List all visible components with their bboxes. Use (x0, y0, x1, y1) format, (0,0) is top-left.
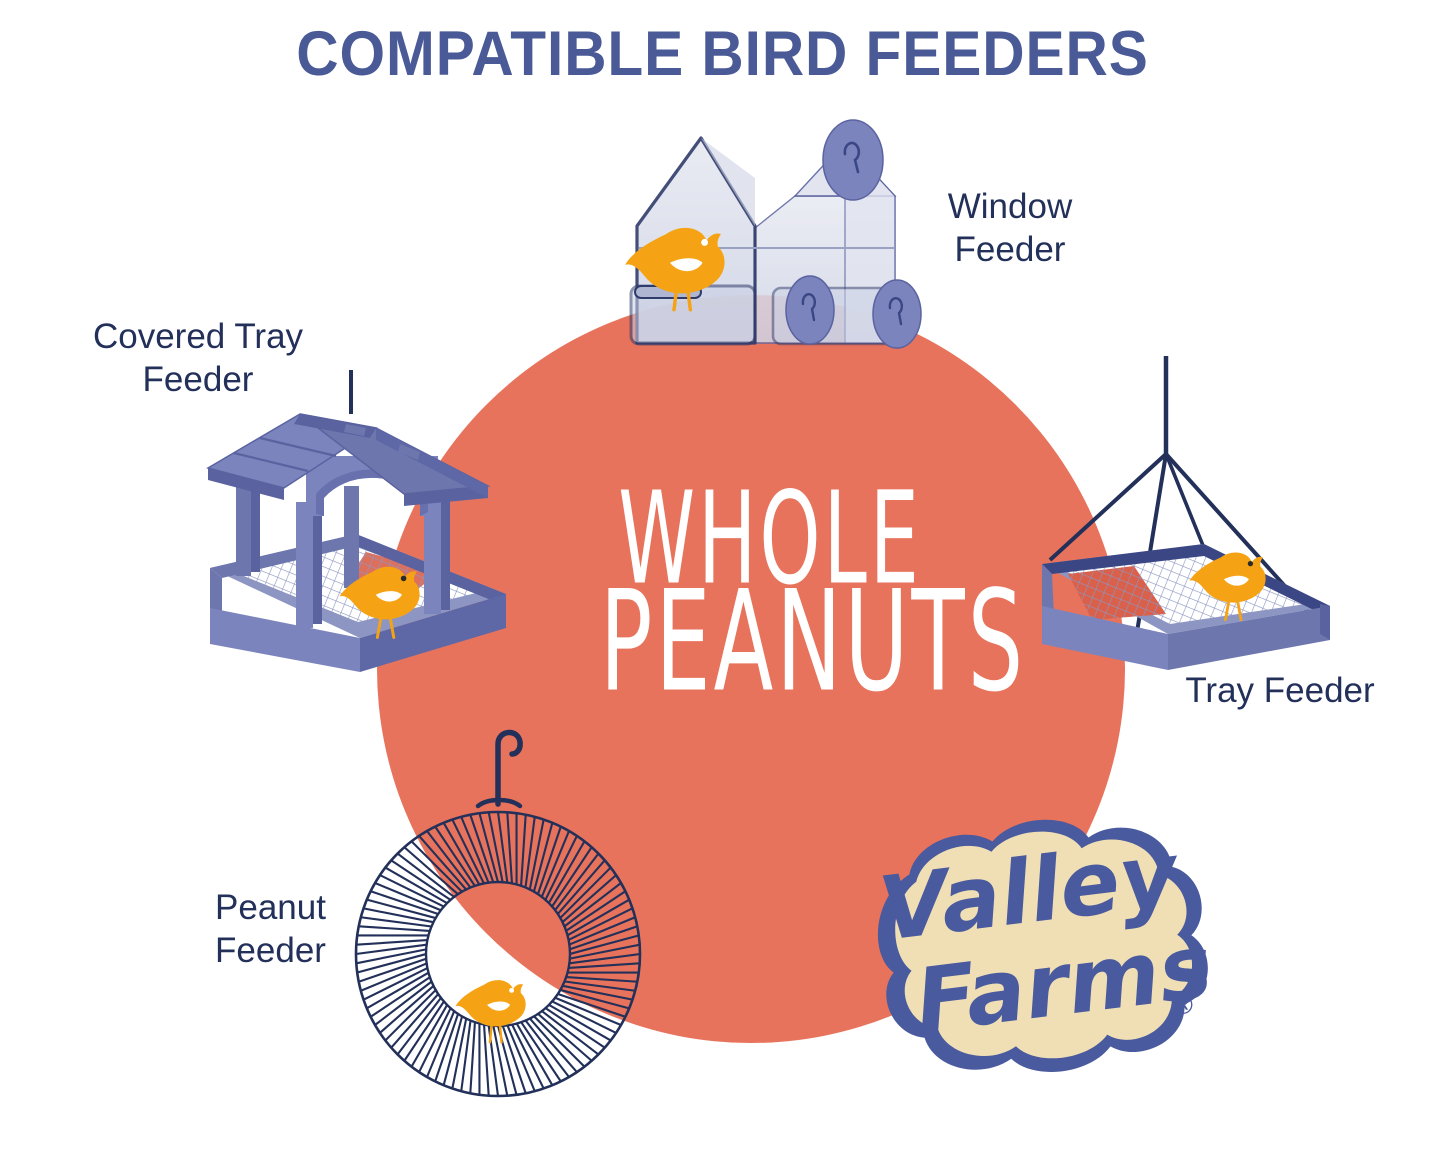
wordmark-line-2: Peanuts (600, 575, 940, 707)
suction-cup-icon (786, 276, 834, 344)
covered-tray-feeder-illustration (188, 366, 528, 696)
label-peanut-feeder: Peanut Feeder (168, 887, 373, 972)
label-tray-feeder: Tray Feeder (1155, 670, 1405, 713)
peanut-feeder-illustration (328, 726, 668, 1106)
suction-cup-icon (823, 120, 883, 200)
suction-cup-icon (873, 280, 921, 348)
page-title: COMPATIBLE BIRD FEEDERS (51, 18, 1395, 90)
window-feeder-illustration (605, 118, 935, 368)
label-covered-tray-feeder: Covered Tray Feeder (48, 316, 348, 401)
registered-trademark-symbol: ® (1170, 991, 1196, 1021)
tray-feeder-illustration (1028, 348, 1368, 688)
product-wordmark: Whole Peanuts (540, 480, 1000, 687)
valley-farms-logo: Valley Farms ® (832, 800, 1232, 1100)
infographic-canvas: COMPATIBLE BIRD FEEDERS Whole Peanuts (0, 0, 1445, 1156)
label-window-feeder: Window Feeder (905, 186, 1115, 271)
